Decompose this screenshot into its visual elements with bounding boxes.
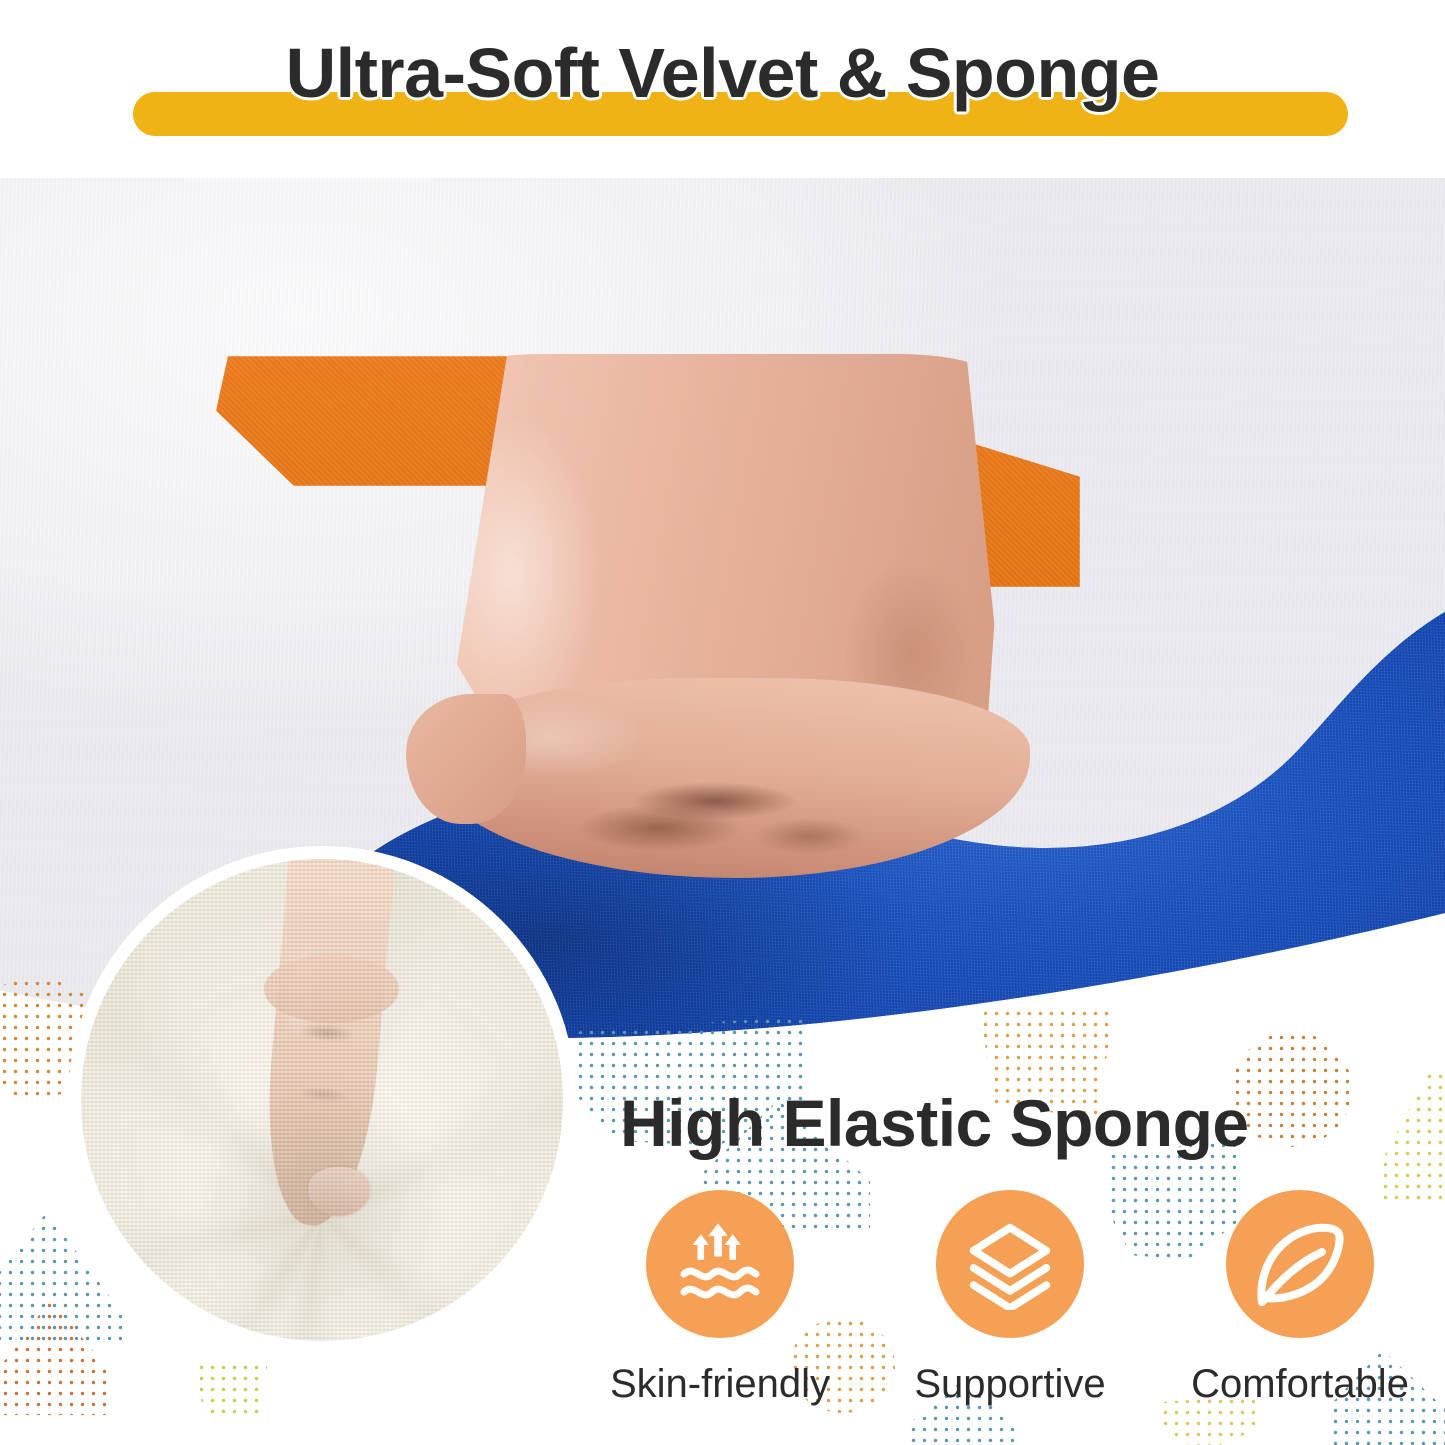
finger-knuckle: [264, 955, 399, 1022]
feature-list: Skin-friendly Supportive: [590, 1190, 1430, 1420]
section-heading: High Elastic Sponge: [620, 1085, 1420, 1161]
layers-stack-icon: [964, 1218, 1056, 1310]
feature-label: Comfortable: [1191, 1362, 1409, 1407]
leaf-icon: [1252, 1216, 1348, 1312]
feature-label: Supportive: [914, 1362, 1105, 1407]
product-feature-banner: High Elastic Sponge Skin-friendly: [0, 0, 1445, 1445]
feature-icon-badge: [1226, 1190, 1374, 1338]
feature-supportive: Supportive: [880, 1190, 1140, 1420]
thumb-fold: [406, 694, 526, 824]
finger: [257, 859, 396, 1229]
feature-label: Skin-friendly: [610, 1362, 830, 1407]
knuckle-crease: [600, 774, 830, 828]
foam-fold-lines: [81, 859, 563, 1341]
header-bar: Ultra-Soft Velvet & Sponge: [0, 0, 1445, 178]
feature-icon-badge: [646, 1190, 794, 1338]
blob-yellow-bottom-mid: [196, 1362, 268, 1420]
feature-skin-friendly: Skin-friendly: [590, 1190, 850, 1420]
breathable-waves-icon: [672, 1216, 768, 1312]
feature-comfortable: Comfortable: [1170, 1190, 1430, 1420]
fingernail: [308, 1167, 371, 1215]
feature-icon-badge: [936, 1190, 1084, 1338]
inset-circle-photo-sponge: [68, 846, 576, 1354]
page-title: Ultra-Soft Velvet & Sponge: [0, 33, 1445, 113]
